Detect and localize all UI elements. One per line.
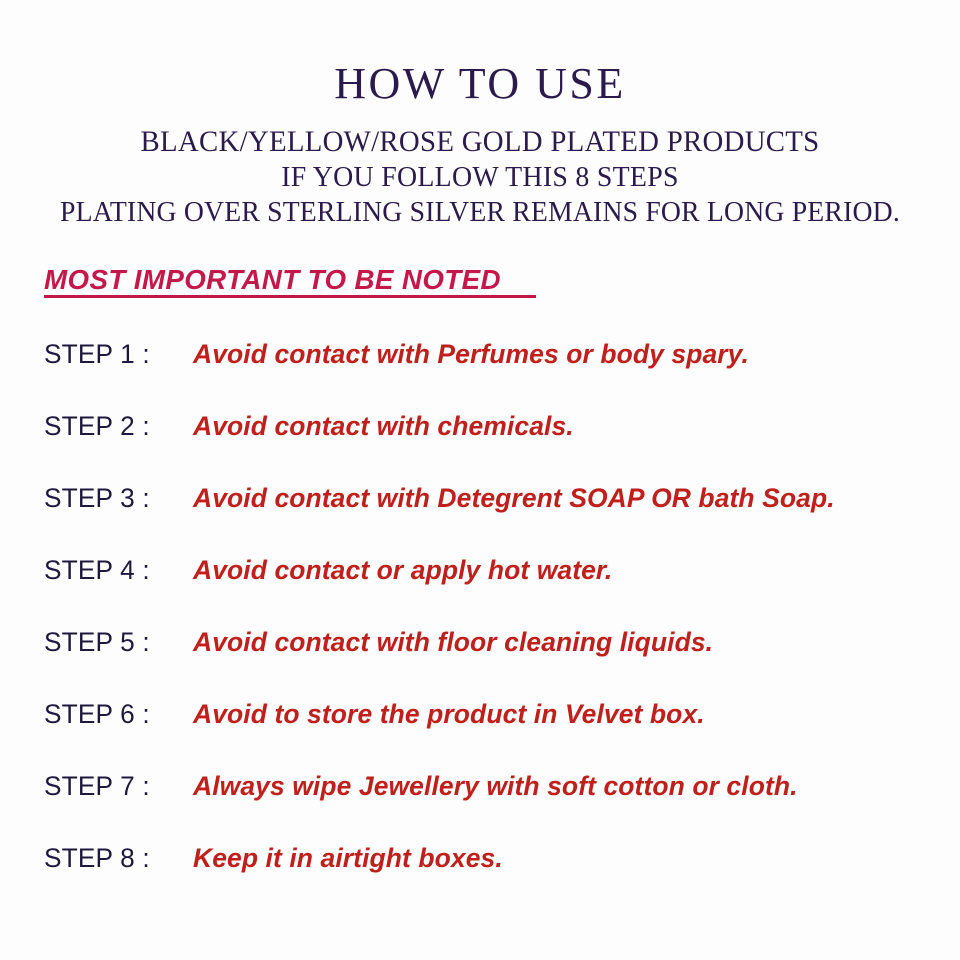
step-text: Avoid contact with floor cleaning liquid…	[193, 625, 713, 659]
list-item: STEP 6 : Avoid to store the product in V…	[0, 690, 960, 762]
subtitle-line-2: IF YOU FOLLOW THIS 8 STEPS	[19, 160, 941, 195]
subtitle-block: BLACK/YELLOW/ROSE GOLD PLATED PRODUCTS I…	[0, 124, 960, 230]
list-item: STEP 7 : Always wipe Jewellery with soft…	[0, 762, 960, 834]
list-item: STEP 2 : Avoid contact with chemicals.	[0, 402, 960, 474]
poster-header: HOW TO USE BLACK/YELLOW/ROSE GOLD PLATED…	[0, 58, 960, 230]
page-title: HOW TO USE	[0, 58, 960, 110]
subtitle-line-3: PLATING OVER STERLING SILVER REMAINS FOR…	[22, 195, 939, 230]
steps-list: STEP 1 : Avoid contact with Perfumes or …	[0, 330, 960, 906]
step-text: Keep it in airtight boxes.	[193, 841, 503, 875]
step-text: Avoid contact with Perfumes or body spar…	[193, 337, 749, 371]
step-label: STEP 7 :	[44, 770, 150, 802]
step-text: Avoid contact with chemicals.	[193, 409, 574, 443]
step-label: STEP 1 :	[44, 338, 150, 370]
step-text: Avoid contact or apply hot water.	[193, 553, 612, 587]
step-label: STEP 2 :	[44, 410, 150, 442]
step-label: STEP 3 :	[44, 482, 150, 514]
subtitle-line-1: BLACK/YELLOW/ROSE GOLD PLATED PRODUCTS	[19, 124, 941, 160]
step-text: Always wipe Jewellery with soft cotton o…	[193, 769, 798, 803]
step-text: Avoid to store the product in Velvet box…	[193, 697, 705, 731]
step-label: STEP 5 :	[44, 626, 150, 658]
step-label: STEP 6 :	[44, 698, 150, 730]
list-item: STEP 8 : Keep it in airtight boxes.	[0, 834, 960, 906]
important-notice-underline	[44, 295, 536, 298]
list-item: STEP 3 : Avoid contact with Detegrent SO…	[0, 474, 960, 546]
care-instructions-poster: HOW TO USE BLACK/YELLOW/ROSE GOLD PLATED…	[0, 0, 960, 960]
list-item: STEP 5 : Avoid contact with floor cleani…	[0, 618, 960, 690]
important-notice-heading: MOST IMPORTANT TO BE NOTED	[44, 264, 501, 296]
list-item: STEP 1 : Avoid contact with Perfumes or …	[0, 330, 960, 402]
step-label: STEP 8 :	[44, 842, 150, 874]
list-item: STEP 4 : Avoid contact or apply hot wate…	[0, 546, 960, 618]
step-text: Avoid contact with Detegrent SOAP OR bat…	[193, 481, 835, 515]
step-label: STEP 4 :	[44, 554, 150, 586]
